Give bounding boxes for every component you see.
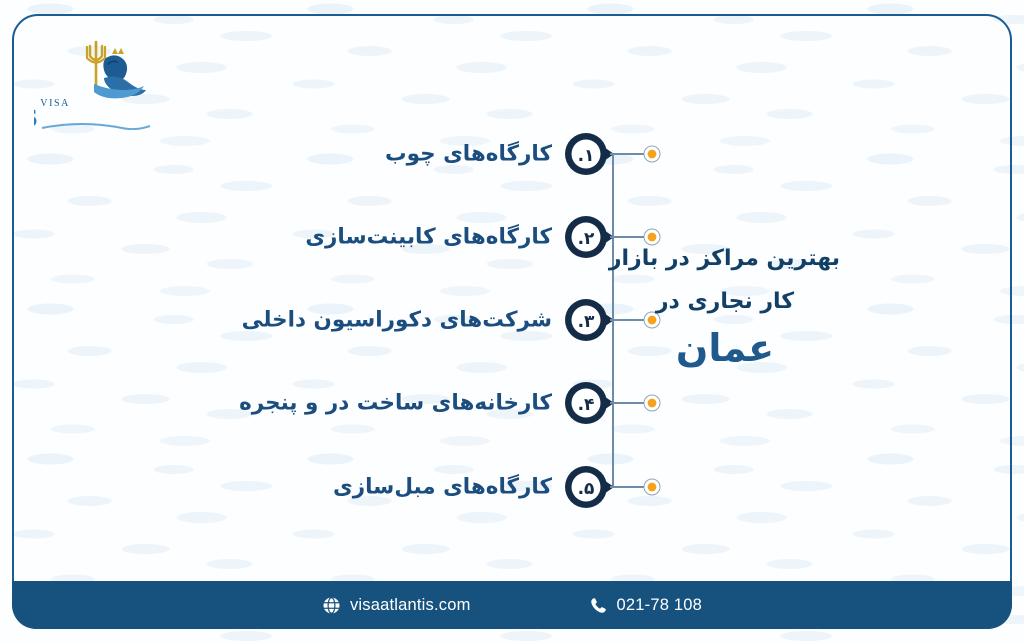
footer-website[interactable]: visaatlantis.com [322, 596, 471, 615]
list-item-label: کارخانه‌های ساخت در و پنجره [239, 391, 552, 416]
logo-sub-text: VISA [40, 98, 70, 109]
timeline-connector [610, 486, 644, 488]
logo-name-text: ATLANTIS [34, 105, 38, 130]
list-item[interactable]: کارخانه‌های ساخت در و پنجره ۴. [372, 375, 652, 431]
footer-phone-text: 021-78 108 [617, 596, 703, 615]
poster-canvas: VISA ATLANTIS کارگاه‌های چوب ۱. کارگاه‌ه… [0, 0, 1024, 643]
list-item-number-badge: ۲. [560, 210, 614, 264]
list-item-number-badge: ۴. [560, 376, 614, 430]
brand-logo[interactable]: VISA ATLANTIS [34, 34, 164, 130]
footer-bar: visaatlantis.com 021-78 108 [12, 581, 1012, 629]
page-title: بهترین مراکز در بازار کار نجاری در عمان [610, 238, 840, 371]
timeline-dot [643, 478, 661, 496]
timeline-dot [643, 394, 661, 412]
timeline-connector [610, 153, 644, 155]
list-item[interactable]: کارگاه‌های چوب ۱. [372, 126, 652, 182]
page-title-line-1: بهترین مراکز در بازار [610, 238, 840, 281]
list-item-label: شرکت‌های دکوراسیون داخلی [242, 308, 552, 333]
globe-icon [322, 596, 341, 615]
timeline-dot [643, 145, 661, 163]
list-item[interactable]: کارگاه‌های مبل‌سازی ۵. [372, 459, 652, 515]
list-item-number: ۱. [578, 146, 595, 166]
list-item-number-badge: ۱. [560, 127, 614, 181]
timeline-connector [610, 402, 644, 404]
list-item-label: کارگاه‌های کابینت‌سازی [305, 225, 552, 250]
list-item-number: ۵. [578, 479, 595, 499]
phone-icon [589, 596, 608, 615]
poseidon-trident-icon [87, 42, 146, 98]
list-item-number: ۲. [578, 229, 595, 249]
footer-phone[interactable]: 021-78 108 [589, 596, 703, 615]
footer-website-text: visaatlantis.com [350, 596, 471, 615]
page-title-country: عمان [610, 326, 840, 372]
page-title-line-2: کار نجاری در [610, 281, 840, 324]
list-item-number: ۳. [578, 312, 595, 332]
list-item-number-badge: ۵. [560, 460, 614, 514]
list-item-label: کارگاه‌های چوب [385, 142, 552, 167]
list-item-number-badge: ۳. [560, 293, 614, 347]
list-item-number: ۴. [578, 395, 595, 415]
list-item-label: کارگاه‌های مبل‌سازی [333, 475, 552, 500]
